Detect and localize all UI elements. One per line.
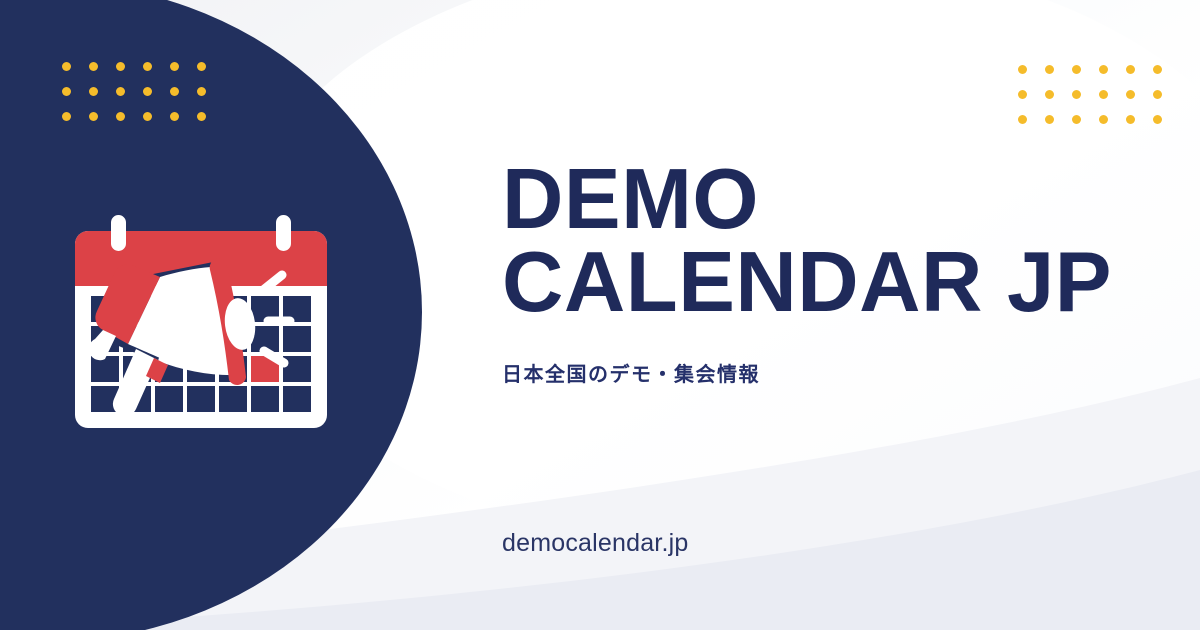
og-image-card: DEMO CALENDAR JP 日本全国のデモ・集会情報 democalend… — [0, 0, 1200, 630]
dot — [116, 112, 125, 121]
dot — [197, 87, 206, 96]
dot — [143, 62, 152, 71]
dot — [170, 87, 179, 96]
dot — [62, 87, 71, 96]
dot — [1018, 65, 1027, 74]
dot — [170, 62, 179, 71]
dot — [143, 112, 152, 121]
dot — [1153, 90, 1162, 99]
dot — [62, 62, 71, 71]
dot — [1018, 115, 1027, 124]
dot — [1099, 65, 1108, 74]
dot — [1072, 115, 1081, 124]
dot — [62, 112, 71, 121]
navy-panel-fill — [0, 0, 70, 630]
dot — [1153, 65, 1162, 74]
dot-grid-decoration-left — [62, 62, 207, 122]
dot — [1045, 90, 1054, 99]
dot — [1126, 90, 1135, 99]
dot — [1126, 115, 1135, 124]
dot — [89, 62, 98, 71]
dot — [1018, 90, 1027, 99]
dot — [1153, 115, 1162, 124]
dot — [1126, 65, 1135, 74]
dot — [1045, 115, 1054, 124]
calendar-megaphone-logo — [72, 213, 330, 438]
dot — [1099, 90, 1108, 99]
dot — [1099, 115, 1108, 124]
site-url: democalendar.jp — [502, 529, 688, 558]
dot — [170, 112, 179, 121]
dot — [1072, 65, 1081, 74]
dot-grid-decoration-right — [1018, 65, 1163, 125]
dot — [89, 112, 98, 121]
calendar-binder-ring — [111, 215, 126, 251]
calendar-binder-ring — [276, 215, 291, 251]
dot — [1045, 65, 1054, 74]
text-block: DEMO CALENDAR JP 日本全国のデモ・集会情報 — [502, 158, 1142, 387]
dot — [116, 87, 125, 96]
dot — [197, 112, 206, 121]
page-subtitle: 日本全国のデモ・集会情報 — [502, 358, 1142, 387]
dot — [89, 87, 98, 96]
page-title: DEMO CALENDAR JP — [502, 158, 1142, 325]
dot — [1072, 90, 1081, 99]
dot — [197, 62, 206, 71]
dot — [116, 62, 125, 71]
dot — [143, 87, 152, 96]
